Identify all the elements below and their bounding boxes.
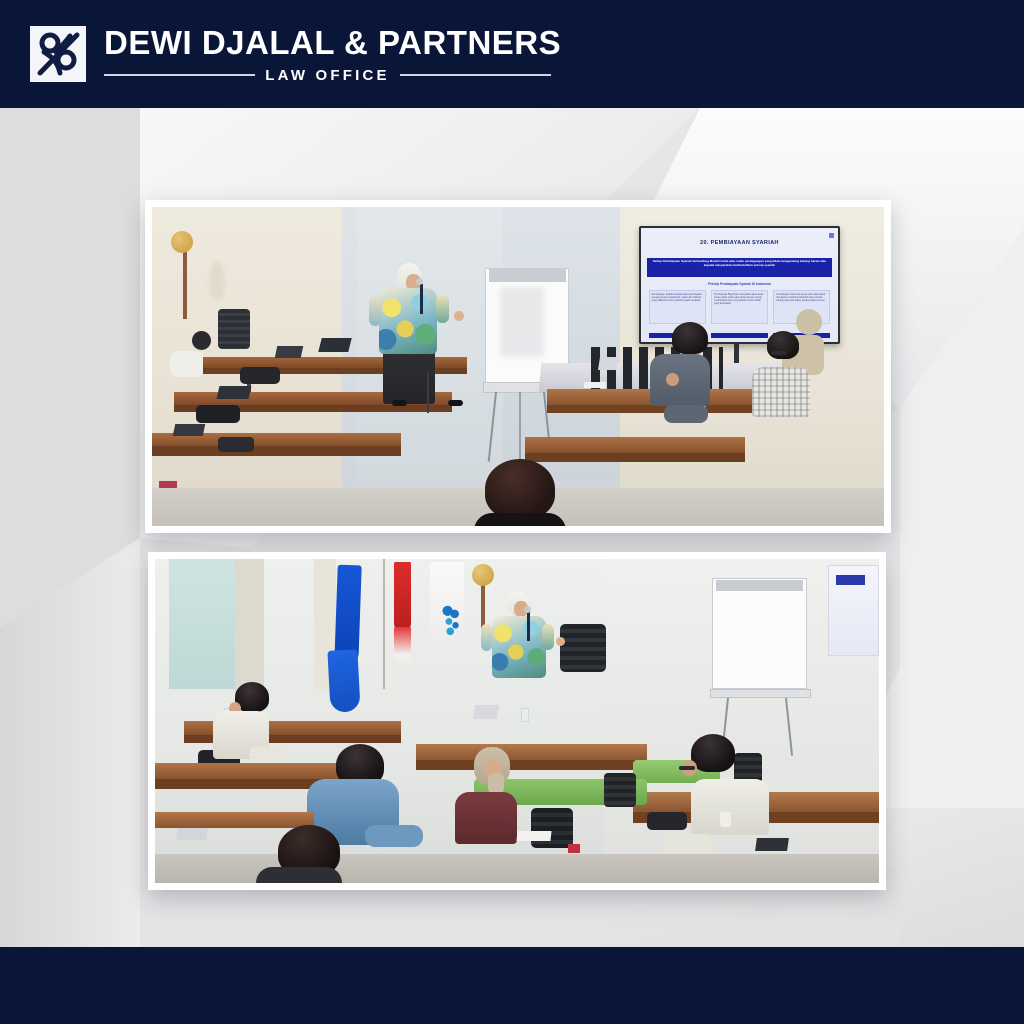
speaker-batik-blouse-bottom bbox=[492, 616, 546, 678]
flipchart-clip-bottom bbox=[716, 580, 803, 591]
laptop-1 bbox=[319, 338, 352, 352]
wall-teal-tile bbox=[169, 559, 234, 689]
laptop-foreground bbox=[176, 828, 208, 840]
speaker-hand-bottom bbox=[556, 637, 565, 646]
laptop-2 bbox=[275, 346, 304, 358]
participant-checkered-head bbox=[767, 331, 799, 359]
laptop-right bbox=[597, 357, 617, 370]
flipchart-paper-shadow bbox=[500, 287, 544, 357]
table-row-5-apron bbox=[525, 453, 745, 463]
drinking-glass-speaker bbox=[521, 708, 529, 722]
red-notebook bbox=[159, 481, 177, 488]
office-chair-left bbox=[218, 309, 250, 349]
eyeglasses-icon bbox=[771, 351, 787, 355]
wall-shadow bbox=[209, 261, 225, 301]
foreground-attendee-hair bbox=[485, 459, 555, 519]
foreground-attendee-shoulders bbox=[474, 513, 566, 526]
participant-gray-shirt-head bbox=[672, 322, 708, 354]
indonesian-flag bbox=[394, 562, 411, 632]
microphone-stand bbox=[420, 284, 423, 314]
speaker-arm-right bbox=[436, 295, 449, 323]
brand-name: DEWI DJALAL & PARTNERS bbox=[104, 26, 561, 59]
microphone-head-bottom bbox=[524, 606, 531, 613]
wall-column-1 bbox=[235, 559, 264, 695]
participant-back-left-arm bbox=[249, 747, 283, 761]
slide-title: 20. PEMBIAYAAN SYARIAH bbox=[641, 240, 838, 246]
photo-bottom bbox=[155, 559, 879, 883]
laptop-3 bbox=[216, 386, 251, 399]
flipchart-tray-bottom bbox=[710, 689, 811, 699]
wall-clock-icon-bottom bbox=[472, 564, 494, 586]
organization-flag-emblem bbox=[441, 604, 463, 642]
red-item-foreground bbox=[568, 844, 580, 853]
chair-foreground-2 bbox=[604, 773, 636, 807]
executive-chair bbox=[560, 624, 606, 672]
chair-foreground-1 bbox=[531, 808, 573, 848]
paper-right-1 bbox=[584, 382, 607, 388]
wall-clock-icon bbox=[171, 231, 193, 253]
participant-checkered-body bbox=[752, 367, 810, 417]
flipchart-clip bbox=[489, 269, 566, 282]
clock-rod bbox=[183, 245, 187, 319]
monogram-icon bbox=[30, 26, 86, 82]
photo-top: 20. PEMBIAYAAN SYARIAH Setiap Pembiayaan… bbox=[152, 207, 884, 526]
slide-column-1: Pembiayaan Jual Beli adalah akad pembiay… bbox=[649, 290, 706, 324]
participant-right-head bbox=[691, 734, 735, 772]
speaker-arm-left-bottom bbox=[481, 624, 492, 651]
participant-blue-shirt-arm bbox=[365, 825, 423, 847]
brand-subtitle-row: LAW OFFICE bbox=[104, 68, 551, 83]
speaker-shoe-left bbox=[392, 400, 407, 406]
table-left-3 bbox=[155, 812, 314, 828]
speaker-trouser-fold bbox=[427, 373, 429, 413]
slide-subtitle: Prinsip Pembiayaan Syariah Di Indonesia bbox=[641, 282, 838, 286]
eyeglasses-icon-bottom bbox=[679, 766, 695, 770]
paper-cup bbox=[720, 812, 731, 827]
laptop-right-bottom bbox=[755, 838, 789, 851]
participant-right-arm bbox=[662, 834, 714, 854]
participant-hijab-body bbox=[455, 792, 517, 844]
laptop-4 bbox=[173, 424, 206, 436]
slide-button-2 bbox=[711, 333, 768, 338]
table-left-2 bbox=[155, 763, 343, 779]
speaker-shoe-right bbox=[448, 400, 463, 406]
speaker-arm-left bbox=[369, 296, 381, 326]
footer-bar bbox=[0, 947, 1024, 1024]
flipchart-board-bottom bbox=[712, 578, 806, 688]
photo-card-bottom[interactable] bbox=[148, 552, 886, 890]
bag-2 bbox=[196, 405, 240, 423]
table-row-3-apron bbox=[152, 446, 401, 456]
header-bar: DEWI DJALAL & PARTNERS LAW OFFICE bbox=[0, 0, 1024, 108]
speaker-hand-right bbox=[454, 311, 464, 321]
bag-3 bbox=[218, 437, 254, 452]
participant-gray-shirt-hand bbox=[666, 373, 679, 386]
photo-card-top[interactable]: 20. PEMBIAYAAN SYARIAH Setiap Pembiayaan… bbox=[145, 200, 891, 533]
brand-rule-right bbox=[400, 74, 551, 76]
microphone-stand-bottom bbox=[527, 611, 530, 641]
speaker-arm-right-bottom bbox=[542, 624, 554, 650]
wall-poster-band bbox=[836, 575, 865, 585]
brand-rule-left bbox=[104, 74, 255, 76]
participant-left-body bbox=[170, 351, 204, 377]
blue-flag-fold bbox=[327, 649, 360, 712]
table-row-4-apron bbox=[547, 405, 774, 413]
speaker-batik-blouse bbox=[379, 288, 437, 354]
table-main-apron bbox=[416, 760, 648, 770]
table-row-5 bbox=[525, 437, 745, 453]
participant-right-body bbox=[691, 779, 769, 835]
indonesian-flag-white-band bbox=[394, 627, 411, 671]
papers-foreground bbox=[516, 831, 551, 841]
bag-right-bottom bbox=[647, 812, 687, 830]
participant-front-body bbox=[256, 867, 342, 883]
slide-column-2: Pembiayaan Bagi Hasil merupakan akad ker… bbox=[711, 290, 768, 324]
participant-gray-shirt-body bbox=[650, 354, 710, 406]
brand-subtitle: LAW OFFICE bbox=[255, 68, 400, 83]
slide-highlight-band: Setiap Pembiayaan Syariah terkandung Mod… bbox=[647, 258, 832, 277]
bag-1 bbox=[240, 367, 280, 384]
slide-badge bbox=[829, 233, 834, 238]
dewi-djalal-monogram-logo bbox=[30, 26, 86, 82]
poster-canvas: DEWI DJALAL & PARTNERS LAW OFFICE bbox=[0, 0, 1024, 1024]
brand-text: DEWI DJALAL & PARTNERS LAW OFFICE bbox=[104, 26, 561, 83]
flag-pole bbox=[383, 559, 385, 689]
table-main-bottom bbox=[416, 744, 648, 760]
flipchart-leg-center bbox=[519, 392, 521, 465]
participant-gray-shirt-arm bbox=[664, 405, 708, 423]
laptop-podium bbox=[473, 705, 499, 719]
